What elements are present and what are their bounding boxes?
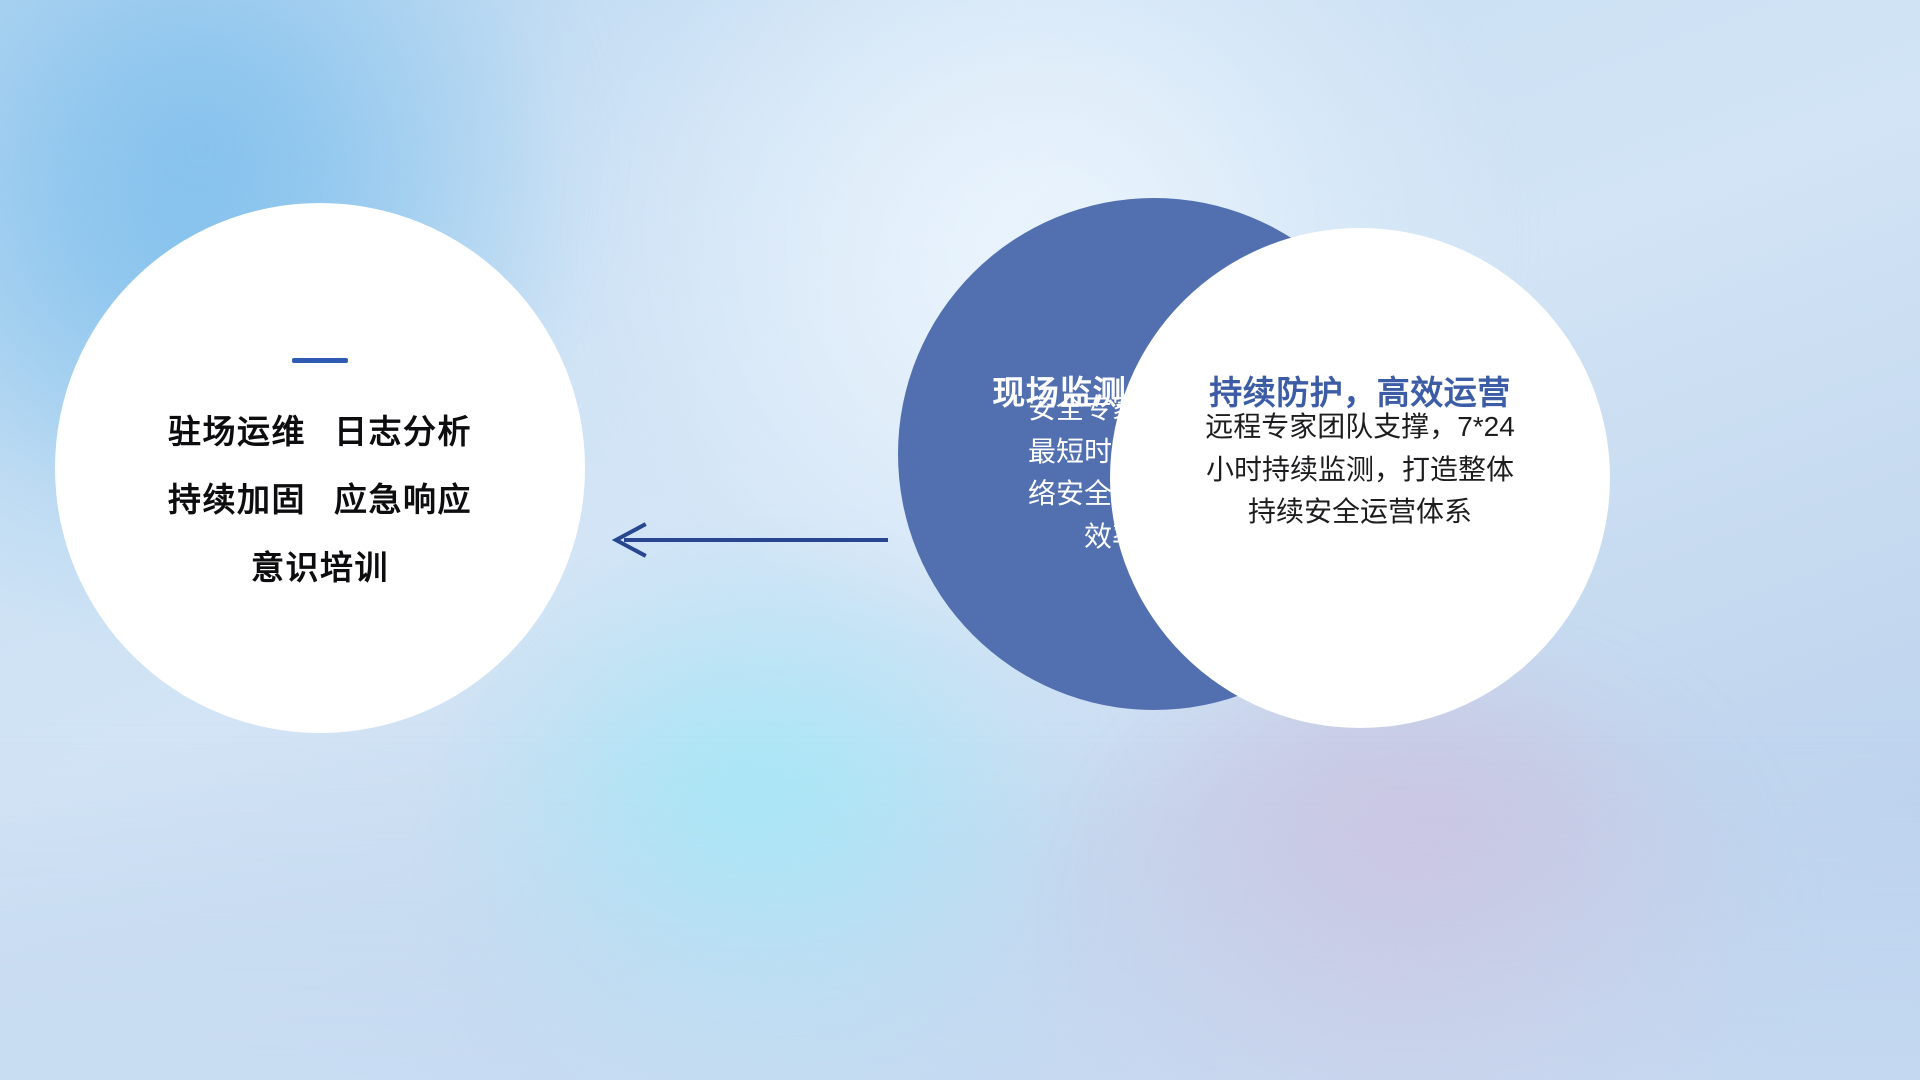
right-circle-content: 远程专家团队支撑，7*24 小时持续监测，打造整体 持续安全运营体系 — [1110, 228, 1610, 728]
right-circle-title: 持续防护，高效运营 — [1140, 366, 1580, 414]
capability-continuous-hardening: 持续加固 — [168, 481, 306, 518]
capability-row-1: 驻场运维日志分析 — [168, 415, 472, 448]
capability-emergency-response: 应急响应 — [334, 481, 472, 518]
capability-row-3: 意识培训 — [251, 551, 389, 584]
divider-dash-icon — [292, 358, 348, 363]
capability-awareness-training: 意识培训 — [251, 549, 389, 586]
left-capability-circle[interactable]: 驻场运维日志分析 持续加固应急响应 意识培训 — [55, 203, 585, 733]
right-circle-body: 远程专家团队支撑，7*24 小时持续监测，打造整体 持续安全运营体系 — [1174, 406, 1546, 534]
arrow-left-icon — [600, 505, 890, 575]
slide-canvas: 驻场运维日志分析 持续加固应急响应 意识培训 安全专家现场保障， 最短时间响应突… — [0, 0, 1920, 1080]
capability-onsite-ops: 驻场运维 — [168, 413, 306, 450]
capability-row-2: 持续加固应急响应 — [168, 483, 472, 516]
background-bottom-wash — [0, 760, 1920, 1080]
left-circle-content: 驻场运维日志分析 持续加固应急响应 意识培训 — [55, 203, 585, 733]
right-service-circle[interactable]: 远程专家团队支撑，7*24 小时持续监测，打造整体 持续安全运营体系 — [1110, 228, 1610, 728]
capability-log-analysis: 日志分析 — [334, 413, 472, 450]
